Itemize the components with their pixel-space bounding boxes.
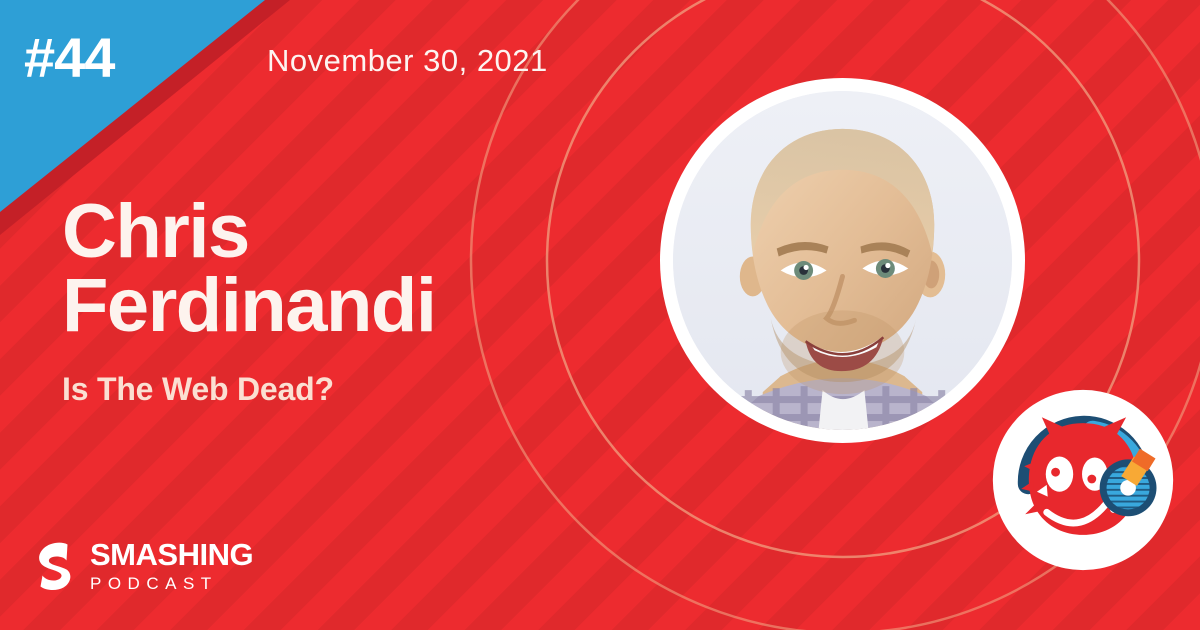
guest-portrait-frame xyxy=(660,78,1025,443)
guest-name: Chris Ferdinandi xyxy=(62,195,622,344)
guest-portrait xyxy=(673,91,1012,430)
title-block: Chris Ferdinandi Is The Web Dead? xyxy=(62,195,622,407)
smashing-cat-with-headphones-icon xyxy=(985,382,1181,578)
smashing-s-icon xyxy=(33,541,77,591)
logo-primary-text: SMASHING xyxy=(90,539,253,570)
guest-portrait-illustration xyxy=(673,91,1012,430)
podcast-episode-card: #44 November 30, 2021 Chris Ferdinandi I… xyxy=(0,0,1200,630)
smashing-podcast-logo: SMASHING PODCAST xyxy=(33,539,253,592)
logo-secondary-text: PODCAST xyxy=(90,575,253,592)
episode-date: November 30, 2021 xyxy=(267,45,548,76)
smashing-cat-mascot-badge xyxy=(985,382,1181,578)
episode-title: Is The Web Dead? xyxy=(62,372,622,407)
logo-wordmark: SMASHING PODCAST xyxy=(90,539,253,592)
episode-number-badge: #44 xyxy=(24,30,114,86)
